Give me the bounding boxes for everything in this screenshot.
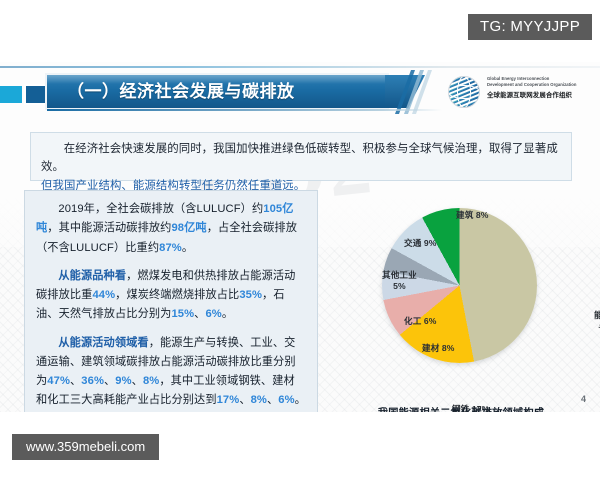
chart-caption: 我国能源相关二氧化碳排放领域构成 (330, 404, 592, 412)
p3-lead: 从能源活动领域看 (58, 337, 148, 349)
p1-d: 。 (182, 242, 193, 254)
statistics-body: 2019年，全社会碳排放（含LULUCF）约105亿吨，其中能源活动碳排放约98… (25, 191, 317, 412)
page-number: 4 (581, 394, 586, 404)
globe-icon (447, 75, 481, 109)
p1-highlight-87: 87% (159, 242, 182, 254)
p3-highlight-8b: 8% (251, 394, 267, 406)
p2-b: ，煤炭终端燃烧排放占比 (115, 289, 239, 301)
p3-highlight-36: 36% (81, 375, 104, 387)
logo-en-line2: Development and Cooperation Organization (487, 82, 592, 88)
pie-chart-wrapper: 建筑 8% 交通 9% 其他工业 5% 化工 6% 建材 8% 钢铁 17% 能… (382, 208, 537, 363)
logo-text-block: Global Energy Interconnection Developmen… (487, 76, 592, 99)
p2-highlight-15: 15% (171, 308, 194, 320)
intro-textbox: 在经济社会快速发展的同时，我国加快推进绿色低碳转型、积极参与全球气候治理，取得了… (30, 132, 572, 181)
site-watermark: www.359mebeli.com (12, 434, 159, 460)
pie-chart-area: 建筑 8% 交通 9% 其他工业 5% 化工 6% 建材 8% 钢铁 17% 能… (330, 184, 592, 412)
p3-c: 、 (104, 375, 115, 387)
intro-line-1: 在经济社会快速发展的同时，我国加快推进绿色低碳转型、积极参与全球气候治理，取得了… (41, 140, 561, 177)
pie-label-energy-l1: 能源生产 (594, 310, 600, 321)
organization-logo: Global Energy Interconnection Developmen… (447, 72, 592, 112)
p2-highlight-6: 6% (205, 308, 221, 320)
pie-label-energy-l3: 47% (594, 332, 600, 343)
p2-lead: 从能源品种看 (58, 270, 126, 282)
p3-g: 、 (267, 394, 278, 406)
pie-label-other-industry-l2: 5% (382, 281, 417, 292)
p1-a: 2019年，全社会碳排放（含LULUCF）约 (58, 203, 263, 215)
p1-b: ，其中能源活动碳排放约 (47, 222, 171, 234)
pie-label-transport: 交通 9% (404, 238, 437, 249)
title-banner: （一）经济社会发展与碳排放 (47, 75, 387, 108)
pie-label-other-industry-l1: 其他工业 (382, 270, 417, 281)
slide-header: （一）经济社会发展与碳排放 (0, 62, 600, 114)
p2-e: 。 (222, 308, 233, 320)
p2-highlight-35: 35% (239, 289, 262, 301)
pie-label-energy-l2: 与转换 (594, 321, 600, 332)
paragraph-1: 2019年，全社会碳排放（含LULUCF）约105亿吨，其中能源活动碳排放约98… (36, 200, 306, 258)
p3-highlight-6b: 6% (278, 394, 294, 406)
pie-label-energy-production: 能源生产 与转换 47% (594, 310, 600, 344)
slide-canvas: CO2 （一）经济社会发展与碳排放 (0, 62, 600, 412)
p2-highlight-44: 44% (92, 289, 115, 301)
p3-highlight-17: 17% (217, 394, 240, 406)
p3-highlight-47: 47% (47, 375, 70, 387)
statistics-panel: 2019年，全社会碳排放（含LULUCF）约105亿吨，其中能源活动碳排放约98… (24, 190, 318, 412)
p3-highlight-8: 8% (143, 375, 159, 387)
p3-f: 、 (239, 394, 250, 406)
logo-cn-line: 全球能源互联网发展合作组织 (487, 90, 592, 99)
p2-d: 、 (194, 308, 205, 320)
p1-highlight-98: 98亿吨 (171, 222, 206, 234)
p3-d: 、 (132, 375, 143, 387)
paragraph-2: 从能源品种看，燃煤发电和供热排放占能源活动碳排放比重44%，煤炭终端燃烧排放占比… (36, 267, 306, 325)
pie-label-other-industry: 其他工业 5% (382, 270, 417, 291)
header-top-rule (0, 66, 600, 68)
pie-label-chemical: 化工 6% (404, 316, 437, 327)
page-title: （一）经济社会发展与碳排放 (67, 75, 295, 108)
pie-label-construction: 建筑 8% (456, 210, 489, 221)
p3-h: 。 (295, 394, 306, 406)
accent-block-cyan (0, 86, 22, 103)
paragraph-3: 从能源活动领域看，能源生产与转换、工业、交通运输、建筑领域碳排放占能源活动碳排放… (36, 334, 306, 411)
pie-label-building-material: 建材 8% (422, 343, 455, 354)
title-underline (47, 109, 442, 111)
telegram-watermark: TG: MYYJJPP (468, 14, 592, 40)
p3-highlight-9: 9% (115, 375, 131, 387)
p3-b: 、 (70, 375, 81, 387)
